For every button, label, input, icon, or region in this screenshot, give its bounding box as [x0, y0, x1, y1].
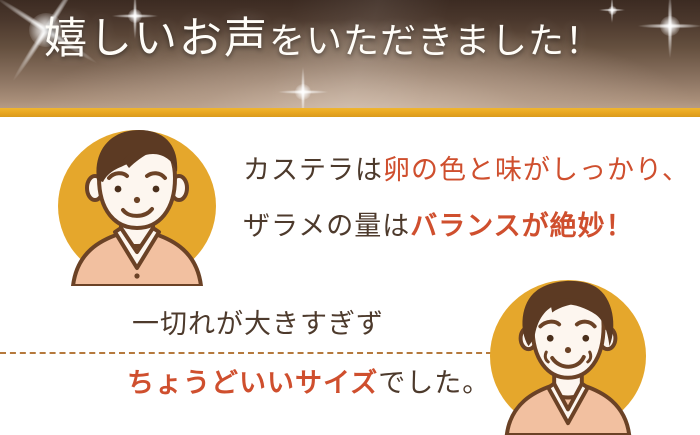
page-title-tail: をいただきました！ [269, 21, 602, 61]
page-title: 嬉しいお声をいただきました！ [44, 18, 602, 61]
quote-text-plain: ザラメの量は [243, 211, 410, 241]
testimonial-section: 嬉しいお声をいただきました！ [0, 0, 700, 435]
quote-text-plain: 一切れが大きすぎず [132, 309, 384, 339]
testimonial-2-line-2: ちょうどいいサイズでした。 [127, 370, 490, 397]
testimonial-1-line-2: ザラメの量はバランスが絶妙！ [243, 213, 634, 240]
quote-text-highlight: ちょうどいいサイズ [127, 368, 378, 398]
testimonial-2-line-1: 一切れが大きすぎず [132, 311, 384, 338]
female-customer-avatar [489, 277, 647, 435]
quote-text-plain: でした。 [378, 368, 490, 398]
quote-text-plain: カステラは [243, 155, 383, 185]
gold-divider-rule [0, 108, 700, 117]
header-banner: 嬉しいお声をいただきました！ [0, 0, 700, 108]
quote-text-highlight: 卵の色と味がしっかり、 [383, 155, 690, 185]
page-title-main: 嬉しいお声 [44, 16, 269, 63]
testimonial-1-line-1: カステラは卵の色と味がしっかり、 [243, 157, 690, 184]
male-customer-avatar [57, 126, 217, 286]
dashed-divider [0, 352, 492, 354]
quote-text-highlight: バランスが絶妙！ [410, 211, 633, 241]
